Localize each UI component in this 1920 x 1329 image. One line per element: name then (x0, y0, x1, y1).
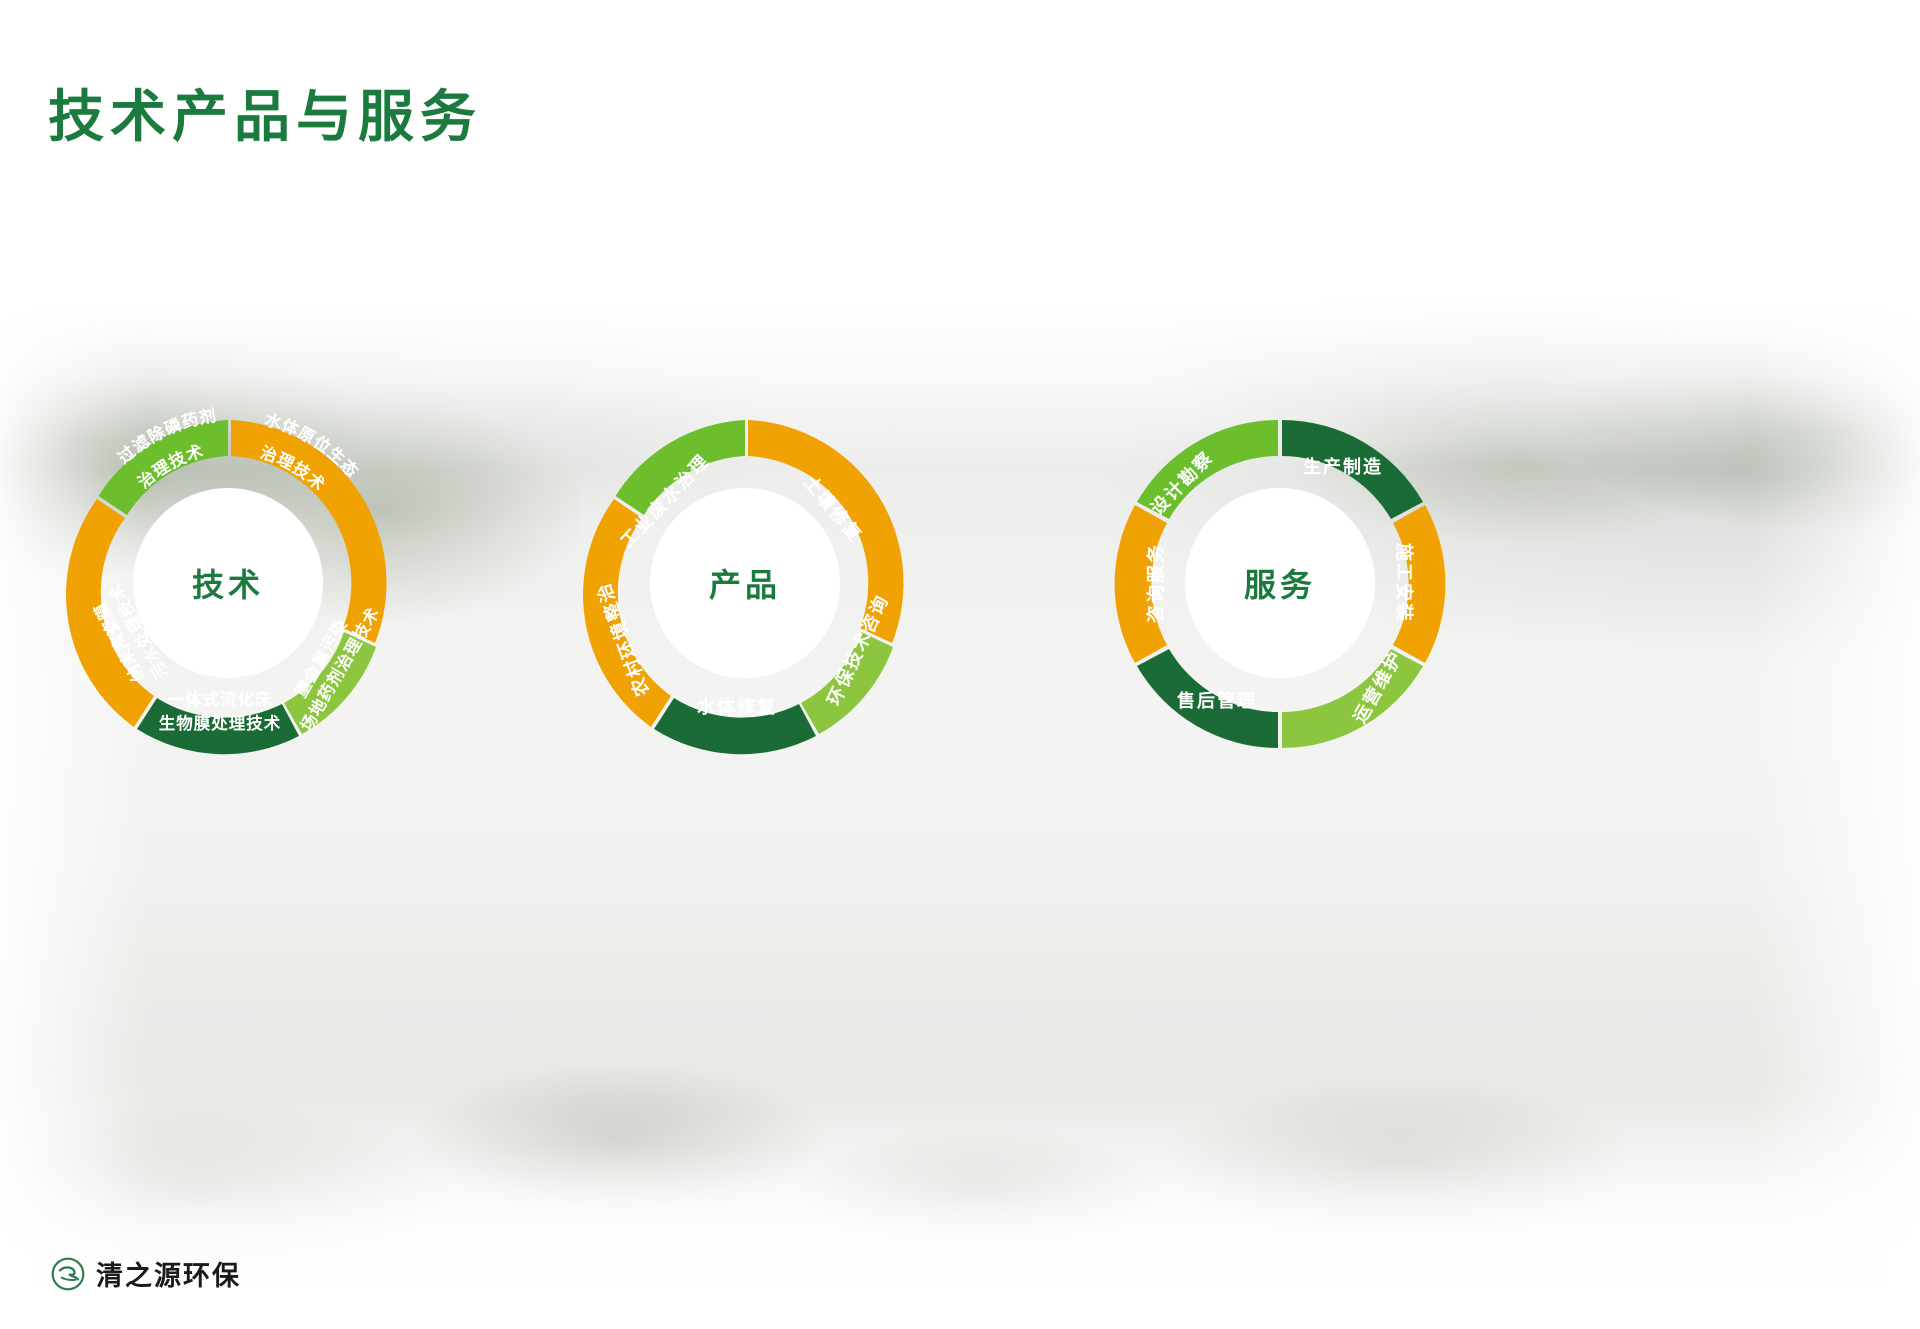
footer-logo: 清之源环保 (50, 1254, 241, 1293)
segment-service-2-label: 施工安装 (1394, 543, 1415, 623)
hub-label-product: 产品 (709, 560, 781, 606)
segment-technology-4-label-line2: 生物膜处理技术 (159, 713, 282, 733)
donut-chart-technology: 过滤除磷药剂 治理技术 水体原位生态 治理技术 重金属污染 场地药 (38, 393, 418, 773)
donut-chart-service: 生产制造 施工安装 运营维护 售后管理 咨询服务 设计勘察 服务 (1090, 393, 1470, 773)
segment-service-1-label: 生产制造 (1303, 456, 1383, 477)
donut-hub-service: 服务 (1185, 488, 1375, 678)
donut-hub-technology: 技术 (133, 488, 323, 678)
photo-fade-bottom (0, 1100, 1920, 1329)
donut-chart-product: 工业废水治理 土壤修复 环保技术咨询 水体修复 农村环境整治 产品 (555, 393, 935, 773)
slide-canvas: 技术产品与服务 (0, 0, 1920, 1329)
logo-wordmark: 清之源环保 (96, 1254, 241, 1293)
page-title: 技术产品与服务 (48, 72, 482, 153)
segment-service-5-label: 咨询服务 (1145, 543, 1166, 623)
segment-service-4-label: 售后管理 (1177, 690, 1257, 711)
photo-fade-right (1750, 300, 1920, 1329)
segment-technology-4-label-line1: 一体式流化床 (168, 689, 273, 709)
hub-label-service: 服务 (1244, 560, 1316, 606)
donut-hub-product: 产品 (650, 488, 840, 678)
swan-circle-logo-icon (50, 1256, 86, 1292)
hub-label-technology: 技术 (192, 560, 264, 606)
segment-product-4-label: 水体修复 (697, 696, 777, 717)
